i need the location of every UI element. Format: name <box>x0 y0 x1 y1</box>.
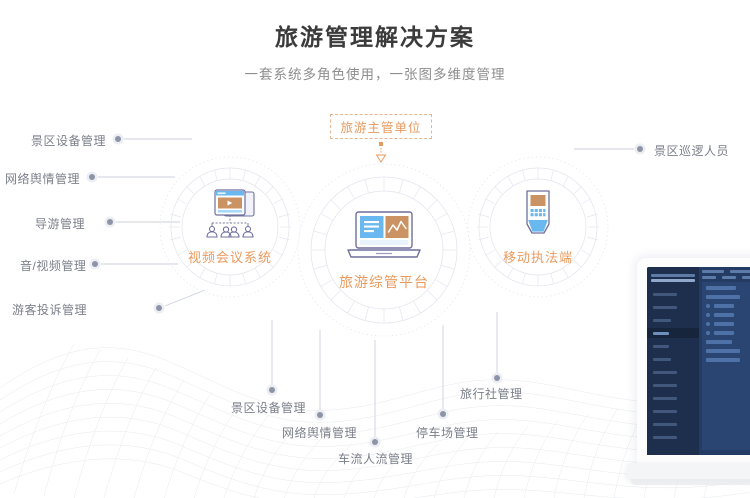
sidebar-item[interactable] <box>647 341 699 351</box>
page-title: 旅游管理解决方案 <box>0 20 750 54</box>
left-item-3[interactable]: 音/视频管理 <box>20 257 86 274</box>
dashboard-filterbar <box>702 276 750 279</box>
infographic-canvas: 旅游管理解决方案 一套系统多角色使用，一张图多维度管理 旅游主管单位 <box>0 0 750 498</box>
dashboard-main <box>699 267 750 455</box>
sidebar-item[interactable] <box>647 393 699 403</box>
sidebar-item[interactable] <box>647 406 699 416</box>
down-arrow-icon <box>374 142 388 164</box>
bottom-item-1[interactable]: 网络舆情管理 <box>282 424 357 441</box>
dashboard-topbar <box>702 270 750 273</box>
bottom-item-4[interactable]: 旅行社管理 <box>460 385 523 402</box>
laptop-lid <box>637 258 750 463</box>
node-video-conference[interactable]: 视频会议系统 <box>158 155 302 299</box>
node-central-platform[interactable]: 旅游综管平台 <box>296 162 472 338</box>
sidebar-item[interactable] <box>647 380 699 390</box>
bottom-item-2[interactable]: 车流人流管理 <box>338 450 413 467</box>
authority-badge[interactable]: 旅游主管单位 <box>330 114 432 139</box>
bottom-item-0[interactable]: 景区设备管理 <box>231 399 306 416</box>
laptop-base <box>627 463 750 479</box>
laptop-platform-icon <box>342 209 426 263</box>
authority-badge-label: 旅游主管单位 <box>340 117 421 136</box>
header: 旅游管理解决方案 一套系统多角色使用，一张图多维度管理 <box>0 20 750 85</box>
node-video-conference-label: 视频会议系统 <box>188 247 272 266</box>
dashboard-panel <box>702 282 750 450</box>
bottom-item-3[interactable]: 停车场管理 <box>416 424 479 441</box>
sidebar-item-selected[interactable] <box>647 328 699 338</box>
node-mobile-enforcement-label: 移动执法端 <box>503 247 573 266</box>
video-conference-icon <box>198 188 262 240</box>
sidebar-item[interactable] <box>647 302 699 312</box>
left-item-0[interactable]: 景区设备管理 <box>31 132 106 149</box>
sidebar-item[interactable] <box>647 289 699 299</box>
handheld-device-icon <box>516 188 560 240</box>
right-item-0[interactable]: 景区巡逻人员 <box>654 142 729 159</box>
dashboard-logo <box>651 274 695 282</box>
page-subtitle: 一套系统多角色使用，一张图多维度管理 <box>0 65 750 85</box>
left-item-4[interactable]: 游客投诉管理 <box>12 301 87 318</box>
sidebar-item[interactable] <box>647 354 699 364</box>
laptop-base-shadow <box>631 479 750 485</box>
left-item-2[interactable]: 导游管理 <box>35 215 85 232</box>
node-central-platform-label: 旅游综管平台 <box>339 272 429 292</box>
left-item-1[interactable]: 网络舆情管理 <box>5 170 80 187</box>
laptop-mockup <box>627 258 750 498</box>
dashboard-screenshot <box>647 267 750 455</box>
sidebar-item[interactable] <box>647 315 699 325</box>
sidebar-item[interactable] <box>647 419 699 429</box>
dashboard-sidebar <box>647 267 699 455</box>
node-mobile-enforcement[interactable]: 移动执法端 <box>466 155 610 299</box>
sidebar-item[interactable] <box>647 367 699 377</box>
sidebar-item[interactable] <box>647 432 699 442</box>
